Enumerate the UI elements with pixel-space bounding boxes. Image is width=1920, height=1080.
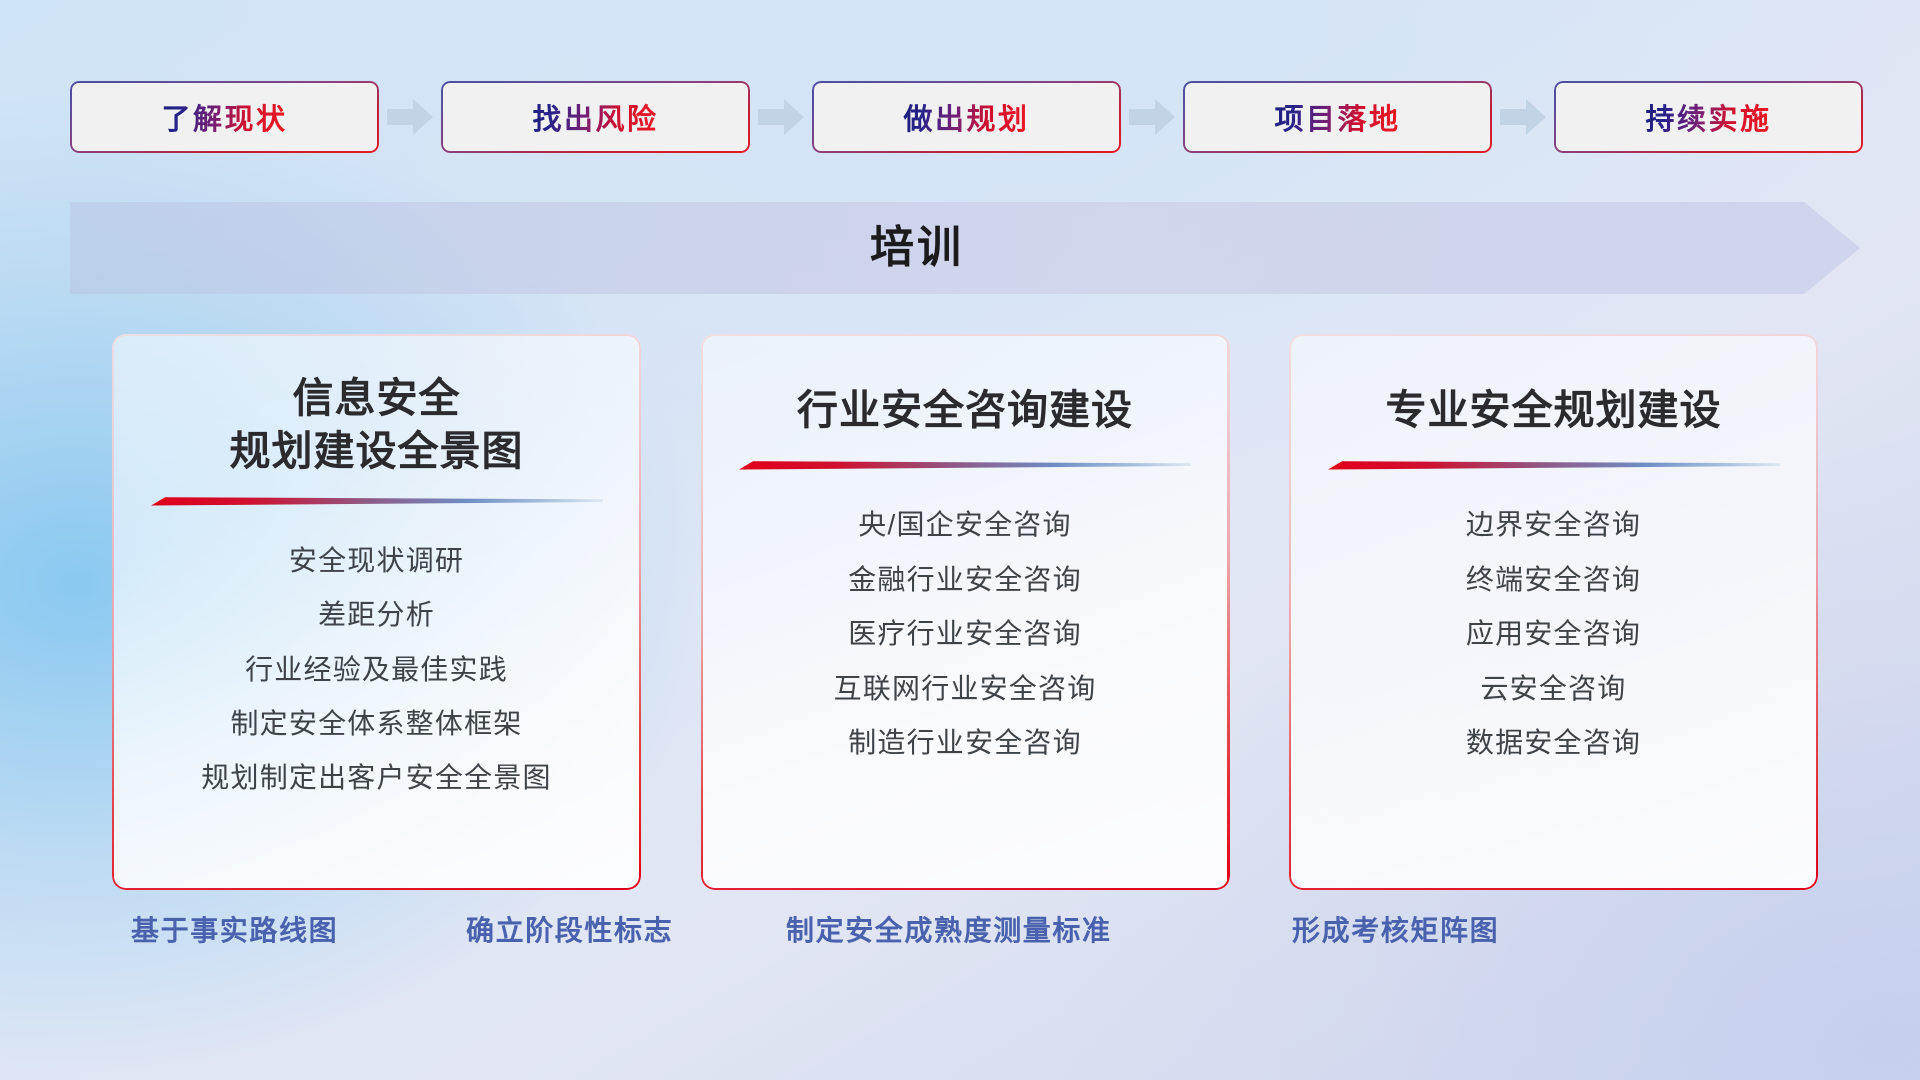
step-label: 项目落地 [1274,96,1400,138]
arrow-right-icon [750,97,812,137]
card-group: 信息安全 规划建设全景图 [112,334,1818,890]
caption-maturity-model: 制定安全成熟度测量标准 [786,910,1112,952]
step-label: 了解现状 [161,96,287,138]
list-item: 央/国企安全咨询 [858,502,1071,548]
step-box-3[interactable]: 做出规划 [812,81,1121,153]
step-box-2[interactable]: 找出风险 [441,81,750,153]
list-item: 行业经验及最佳实践 [245,647,508,693]
list-item: 差距分析 [318,592,435,638]
caption-milestones: 确立阶段性标志 [466,910,673,952]
list-item: 边界安全咨询 [1466,502,1641,548]
list-item: 医疗行业安全咨询 [848,611,1082,657]
step-label: 找出风险 [532,96,658,138]
card-professional-security-planning[interactable]: 专业安全规划建设 [1289,334,1818,890]
card-title: 信息安全 规划建设全景图 [230,372,524,479]
process-step-flow: 了解现状 找出风险 做出规划 项目落地 [70,78,1860,156]
card-title: 专业安全规划建设 [1386,384,1722,437]
arrow-right-icon [379,97,441,137]
list-item: 金融行业安全咨询 [848,557,1082,603]
slide-canvas: 了解现状 找出风险 做出规划 项目落地 [0,0,1920,1080]
arrow-right-icon [1492,97,1554,137]
step-label: 做出规划 [903,96,1029,138]
card-divider-icon [739,459,1191,470]
card-title: 行业安全咨询建设 [797,384,1133,437]
card-list: 央/国企安全咨询 金融行业安全咨询 医疗行业安全咨询 互联网行业安全咨询 制造行… [731,502,1200,766]
step-box-5[interactable]: 持续实施 [1554,81,1863,153]
list-item: 规划制定出客户安全全景图 [201,755,551,801]
caption-matrix: 形成考核矩阵图 [1292,910,1499,952]
list-item: 云安全咨询 [1480,666,1626,712]
training-banner: 培训 [70,202,1860,294]
step-box-4[interactable]: 项目落地 [1183,81,1492,153]
list-item: 互联网行业安全咨询 [834,666,1097,712]
card-list: 边界安全咨询 终端安全咨询 应用安全咨询 云安全咨询 数据安全咨询 [1319,502,1788,766]
list-item: 安全现状调研 [289,538,464,584]
caption-roadmap: 基于事实路线图 [131,910,338,952]
card-industry-security-consulting[interactable]: 行业安全咨询建设 [701,334,1230,890]
list-item: 制造行业安全咨询 [848,720,1082,766]
step-box-1[interactable]: 了解现状 [70,81,379,153]
list-item: 制定安全体系整体框架 [230,701,522,747]
list-item: 数据安全咨询 [1466,720,1641,766]
step-label: 持续实施 [1645,96,1771,138]
card-divider-icon [1328,459,1780,470]
banner-title: 培训 [70,202,1764,294]
arrow-right-icon [1121,97,1183,137]
card-information-security[interactable]: 信息安全 规划建设全景图 [112,334,641,890]
list-item: 应用安全咨询 [1466,611,1641,657]
card-divider-icon [151,495,603,506]
list-item: 终端安全咨询 [1466,557,1641,603]
caption-row: 基于事实路线图 确立阶段性标志 制定安全成熟度测量标准 形成考核矩阵图 [0,910,1920,970]
card-list: 安全现状调研 差距分析 行业经验及最佳实践 制定安全体系整体框架 规划制定出客户… [142,538,611,802]
